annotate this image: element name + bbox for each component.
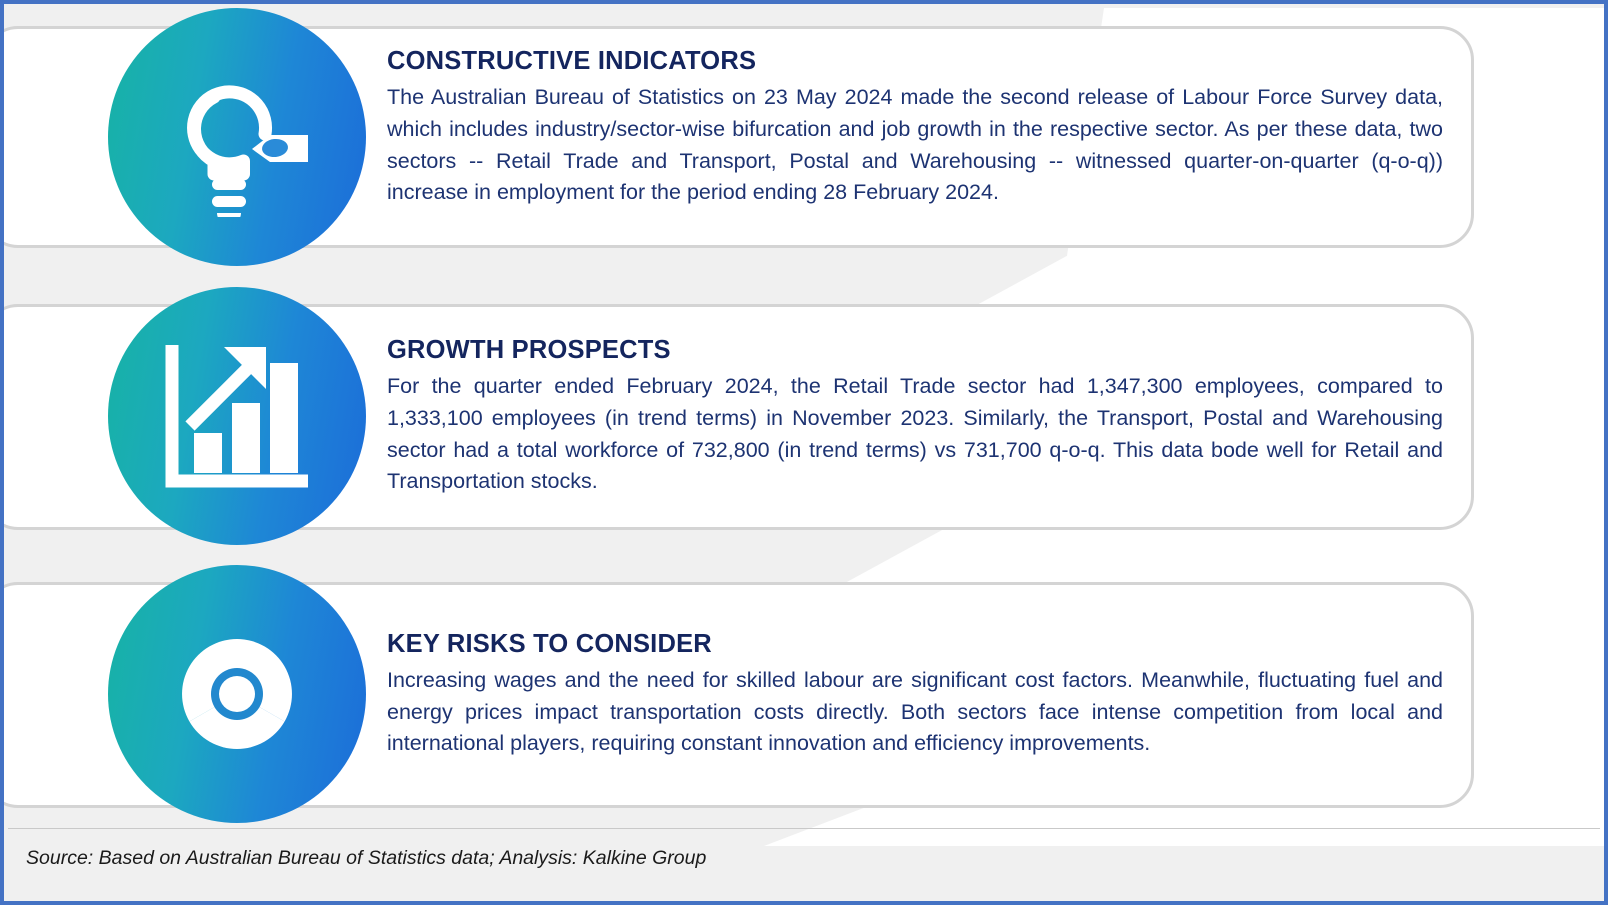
icon-circle-growth-prospects xyxy=(108,287,366,545)
footer-divider xyxy=(8,828,1600,829)
bar-chart-growth-icon xyxy=(162,341,312,491)
source-caption: Source: Based on Australian Bureau of St… xyxy=(26,847,706,870)
card-text: The Australian Bureau of Statistics on 2… xyxy=(387,82,1443,208)
radiation-hazard-icon xyxy=(162,619,312,769)
card-title: CONSTRUCTIVE INDICATORS xyxy=(387,47,1443,76)
card-title: KEY RISKS TO CONSIDER xyxy=(387,630,1443,659)
background-slant-shape xyxy=(764,804,1608,846)
icon-circle-constructive-indicators xyxy=(108,8,366,266)
card-body: KEY RISKS TO CONSIDER Increasing wages a… xyxy=(387,585,1443,805)
infographic-canvas: CONSTRUCTIVE INDICATORS The Australian B… xyxy=(0,0,1608,905)
card-body: CONSTRUCTIVE INDICATORS The Australian B… xyxy=(387,29,1443,245)
card-text: For the quarter ended February 2024, the… xyxy=(387,371,1443,497)
card-text: Increasing wages and the need for skille… xyxy=(387,665,1443,760)
icon-circle-key-risks xyxy=(108,565,366,823)
card-title: GROWTH PROSPECTS xyxy=(387,336,1443,365)
card-body: GROWTH PROSPECTS For the quarter ended F… xyxy=(387,307,1443,527)
lightbulb-icon xyxy=(157,57,317,217)
